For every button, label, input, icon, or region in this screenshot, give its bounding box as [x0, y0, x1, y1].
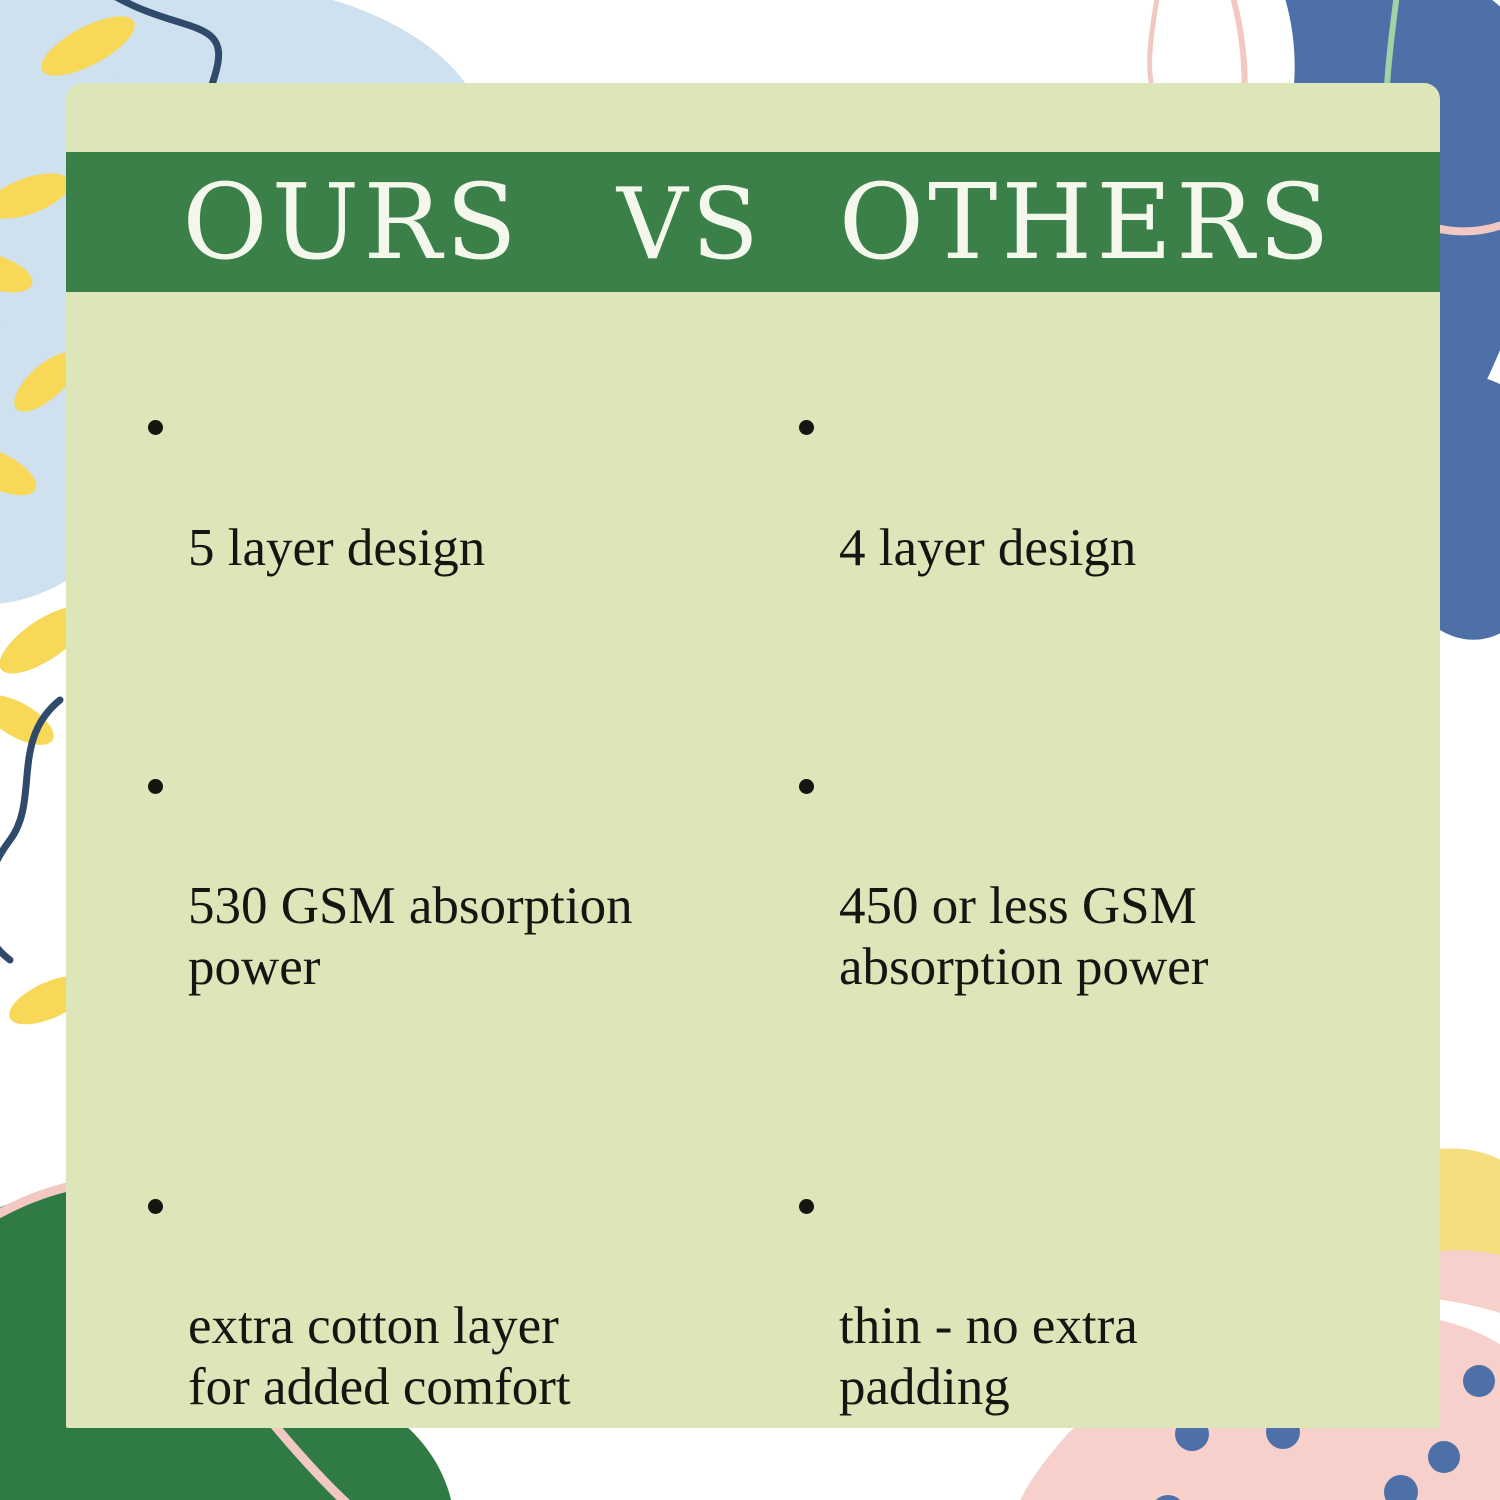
list-item-label: thin - no extra padding [839, 1296, 1422, 1417]
yellow-petal-icon [0, 164, 76, 228]
list-item-label: extra cotton layer for added comfort [188, 1296, 735, 1417]
comparison-columns: 5 layer design 530 GSM absorption power … [66, 319, 1440, 1428]
list-item: 450 or less GSM absorption power [795, 756, 1422, 1058]
header-banner: OURS VS OTHERS [66, 152, 1440, 292]
pink-line-bottom-left-lower-icon [270, 1420, 400, 1500]
yellow-petal-icon [0, 435, 43, 506]
others-bullet-list: 4 layer design 450 or less GSM absorptio… [773, 397, 1422, 1428]
bullet-dot-icon [799, 779, 814, 794]
list-item: 5 layer design [144, 397, 735, 639]
infographic-canvas: OURS VS OTHERS 5 layer design 530 GSM ab… [0, 0, 1500, 1500]
list-item-label: 4 layer design [839, 518, 1422, 578]
navy-blob-top-right-lobe-icon [1380, 0, 1500, 60]
header-others-label: OTHERS [839, 170, 1334, 274]
list-item: 4 layer design [795, 397, 1422, 639]
list-item: thin - no extra padding [795, 1176, 1422, 1428]
column-others: 4 layer design 450 or less GSM absorptio… [753, 319, 1440, 1428]
list-item: extra cotton layer for added comfort [144, 1176, 735, 1428]
bullet-dot-icon [148, 420, 163, 435]
header-banner-inner: OURS VS OTHERS [66, 170, 1440, 274]
bullet-dot-icon [148, 779, 163, 794]
yellow-petal-icon [33, 5, 143, 87]
bullet-dot-icon [148, 1199, 163, 1214]
comparison-card: OURS VS OTHERS 5 layer design 530 GSM ab… [66, 83, 1440, 1428]
navy-squiggle-left-icon [0, 700, 60, 960]
yellow-petal-icon [0, 685, 61, 754]
column-ours: 5 layer design 530 GSM absorption power … [66, 319, 753, 1428]
list-item: 530 GSM absorption power [144, 756, 735, 1058]
header-vs-label: VS [617, 176, 763, 274]
header-ours-label: OURS [182, 170, 520, 274]
list-item-label: 5 layer design [188, 518, 735, 578]
bullet-dot-icon [799, 1199, 814, 1214]
list-item-label: 530 GSM absorption power [188, 876, 735, 997]
list-item-label: 450 or less GSM absorption power [839, 876, 1422, 997]
yellow-petal-icon [0, 243, 37, 300]
ours-bullet-list: 5 layer design 530 GSM absorption power … [128, 397, 735, 1428]
bullet-dot-icon [799, 420, 814, 435]
